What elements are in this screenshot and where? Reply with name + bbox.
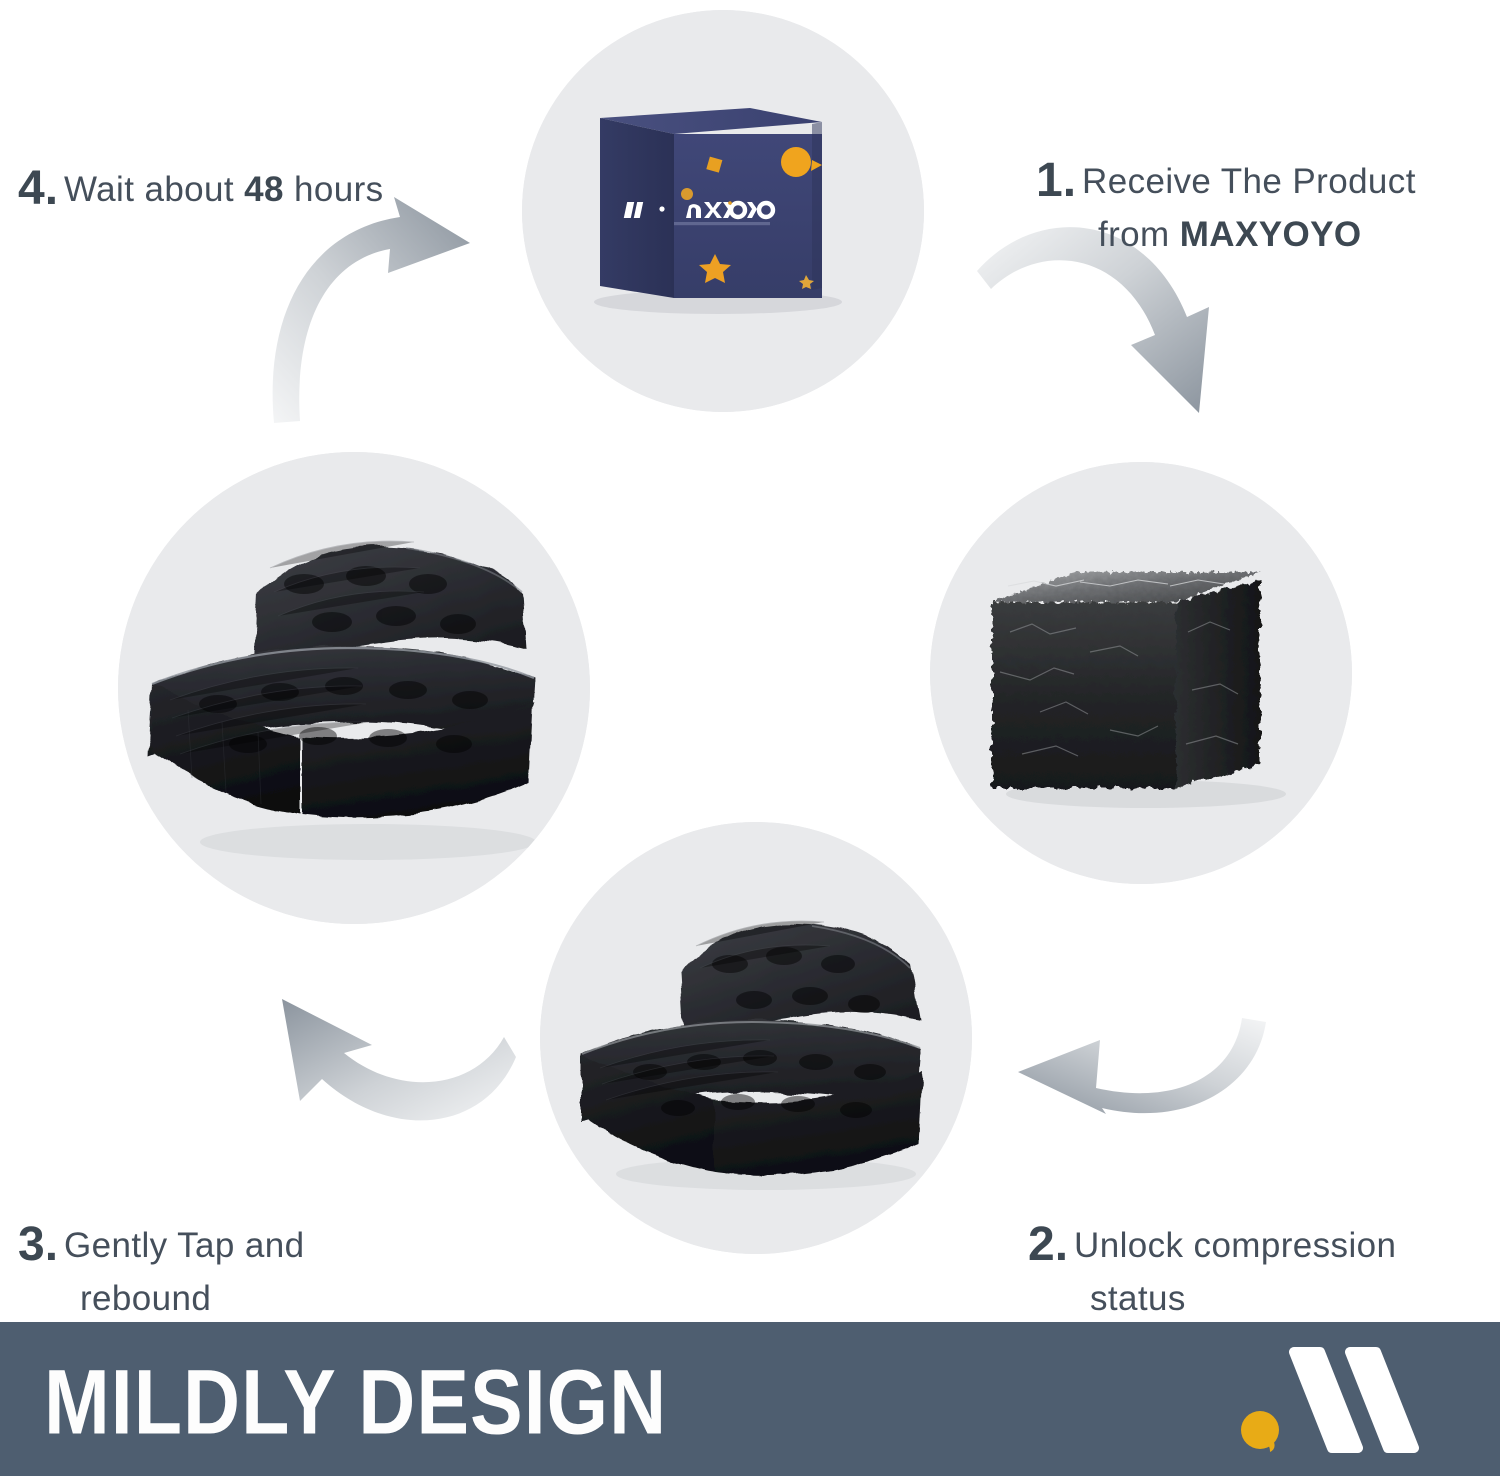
step-3-text-line2: rebound <box>18 1276 418 1322</box>
step-1-line2: from MAXYOYO <box>1036 212 1466 258</box>
arrow-step3-to-step4 <box>248 925 538 1155</box>
step-1-text-line1: Receive The Product <box>1082 162 1416 201</box>
box-tagline <box>674 222 770 225</box>
step-2-image-circle <box>930 462 1352 884</box>
step-2-text-line1: Unlock compression <box>1074 1226 1396 1265</box>
bottom-banner: MILDLY DESIGN <box>0 1322 1500 1476</box>
step-4-text-suffix: hours <box>284 170 384 209</box>
step-2-number: 2. <box>1028 1218 1068 1271</box>
compressed-foam-block-photo <box>930 462 1352 884</box>
step-4-text-prefix: Wait about <box>64 170 244 209</box>
step-4-image-circle <box>118 452 590 924</box>
maxyoyo-m-logo <box>1232 1340 1442 1460</box>
step-3-image-circle <box>540 822 972 1254</box>
step-1-image-circle <box>522 10 924 412</box>
step-1-number: 1. <box>1036 154 1076 207</box>
step-3-number: 3. <box>18 1218 58 1271</box>
partially-expanded-cushion-photo <box>540 822 972 1254</box>
step-4-number: 4. <box>18 162 58 215</box>
step-3-text-line1: Gently Tap and <box>64 1226 304 1265</box>
step-4-label: 4.Wait about 48 hours <box>18 112 488 220</box>
logo-bar-right <box>1350 1352 1414 1448</box>
shipping-box-photo <box>522 10 924 412</box>
step-2-text-line2: status <box>1028 1276 1478 1322</box>
step-1-label: 1.Receive The Product from MAXYOYO <box>1036 104 1466 303</box>
box-decoration-planet <box>781 147 811 177</box>
box-decoration-small-circle <box>681 188 693 200</box>
fully-expanded-cushion-photo <box>118 452 590 924</box>
step-4-text-strong: 48 <box>244 170 284 209</box>
logo-dot <box>1241 1411 1279 1452</box>
step-1-text-prefix: from <box>1098 215 1180 254</box>
banner-title: MILDLY DESIGN <box>44 1356 667 1448</box>
logo-bar-left <box>1294 1352 1358 1448</box>
step-1-brand: MAXYOYO <box>1180 215 1362 254</box>
infographic-canvas: 4.Wait about 48 hours 1.Receive The Prod… <box>0 0 1500 1476</box>
